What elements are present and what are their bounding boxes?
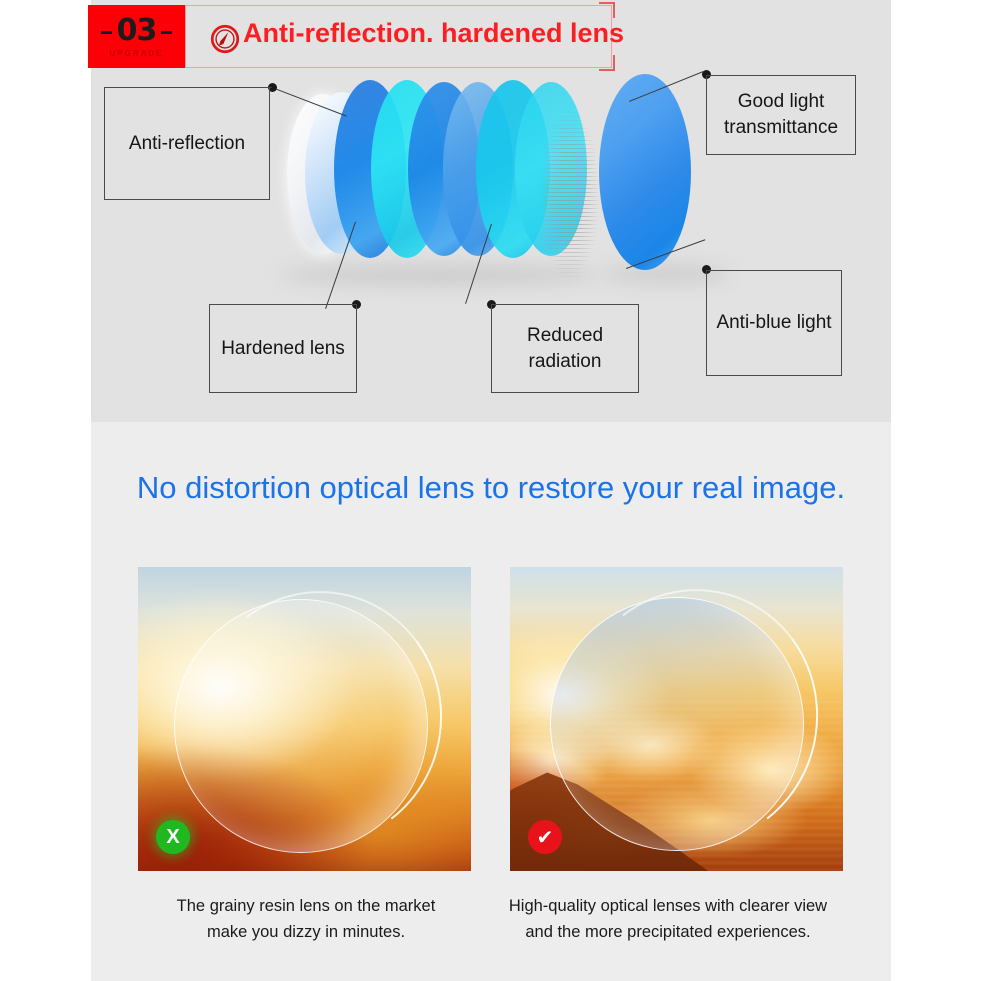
callout-anti-blue-light-line1: Anti-blue light <box>716 310 831 336</box>
step-number: 03 <box>117 16 157 46</box>
infographic-page: 03 UPGRADE Anti-reflection. hardened len… <box>0 0 981 981</box>
callout-good-light-transmittance: Good light transmittance <box>706 75 856 155</box>
radiation-stripes <box>541 100 599 290</box>
check-badge-label: ✔ <box>537 825 554 850</box>
brush-circle-icon <box>208 22 242 56</box>
callout-reduced-radiation-line2: radiation <box>529 349 602 375</box>
callout-good-light-line2: transmittance <box>724 115 838 141</box>
callout-anti-reflection: Anti-reflection <box>104 87 270 200</box>
callout-good-light-line1: Good light <box>738 89 825 115</box>
callout-hardened-lens-line1: Hardened lens <box>221 336 345 362</box>
caption-right-line1: High-quality optical lenses with clearer… <box>492 893 844 919</box>
callout-anti-blue-light: Anti-blue light <box>706 270 842 376</box>
step-badge: 03 UPGRADE <box>88 5 185 68</box>
section-headline: No distortion optical lens to restore yo… <box>91 470 891 506</box>
comparison-photo-left: X <box>138 567 471 871</box>
callout-reduced-radiation: Reduced radiation <box>491 304 639 393</box>
caption-right-line2: and the more precipitated experiences. <box>492 919 844 945</box>
caption-left-line1: The grainy resin lens on the market <box>130 893 482 919</box>
comparison-caption-right: High-quality optical lenses with clearer… <box>492 893 844 946</box>
cross-badge: X <box>156 820 190 854</box>
header-title: Anti-reflection. hardened lens <box>243 18 624 49</box>
callout-anti-reflection-line1: Anti-reflection <box>129 131 245 157</box>
comparison-photo-right: ✔ <box>510 567 843 871</box>
caption-left-line2: make you dizzy in minutes. <box>130 919 482 945</box>
check-badge: ✔ <box>528 820 562 854</box>
cross-badge-label: X <box>166 826 179 849</box>
callout-hardened-lens: Hardened lens <box>209 304 357 393</box>
callout-reduced-radiation-line1: Reduced <box>527 323 603 349</box>
comparison-caption-left: The grainy resin lens on the market make… <box>130 893 482 946</box>
upgrade-label: UPGRADE <box>109 49 163 58</box>
lens-large-blue <box>599 74 691 270</box>
